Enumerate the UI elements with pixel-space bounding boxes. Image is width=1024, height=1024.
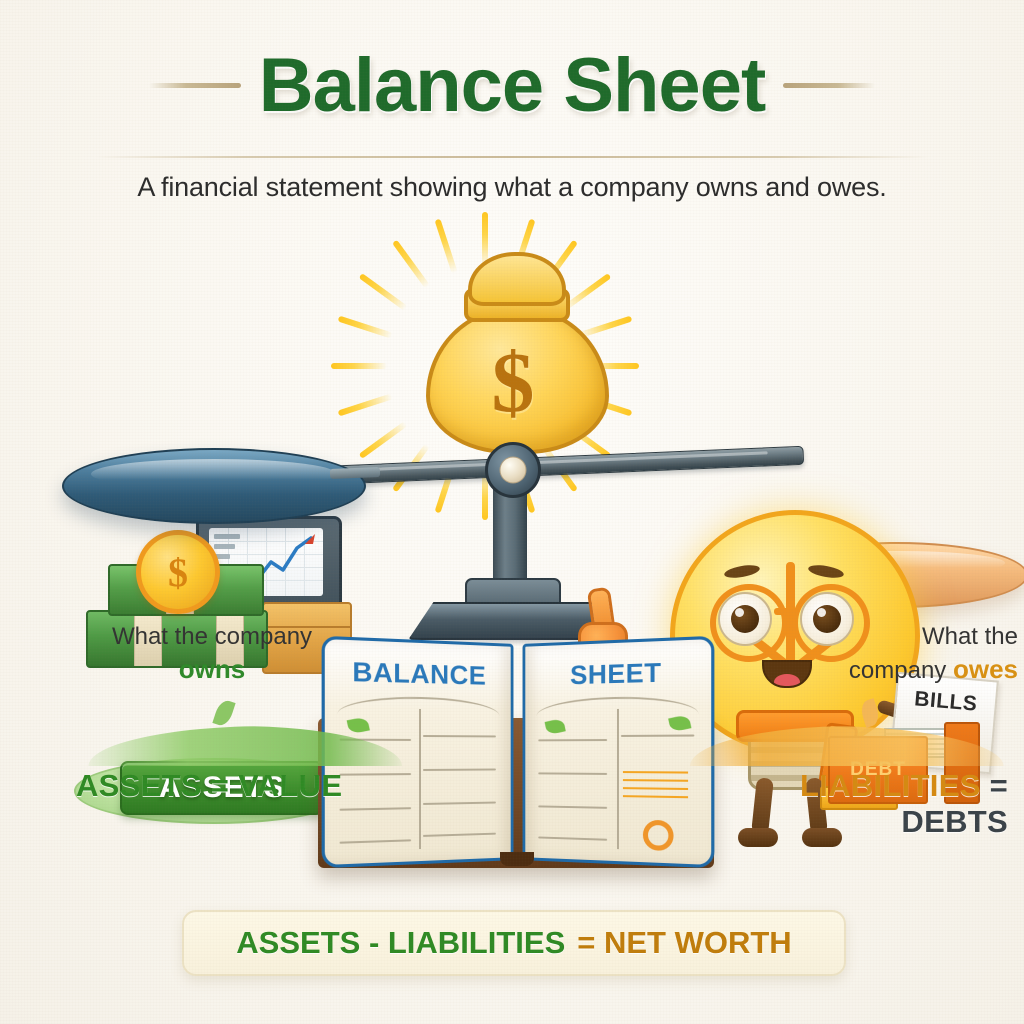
glasses-bridge <box>774 608 796 615</box>
page-rule <box>538 805 607 808</box>
banner-right-text: = NET WORTH <box>577 925 791 961</box>
floating-leaf-green-icon <box>212 698 235 728</box>
liabilities-caption-line1: What the <box>808 622 1018 653</box>
liabilities-equation: LIABILITIES = DEBTS <box>688 768 1008 840</box>
page-rule <box>340 807 412 811</box>
orange-entry-line <box>623 787 688 790</box>
liabilities-caption-text: company <box>849 657 953 684</box>
scale-pivot <box>485 442 541 498</box>
orange-stamp-icon <box>643 820 674 851</box>
page-rule <box>423 769 496 771</box>
shine-ray <box>338 393 393 416</box>
page-divider-right <box>617 709 619 849</box>
assets-equation: ASSETS = VALUE <box>76 768 376 804</box>
scale-pan-left-rod <box>330 467 380 479</box>
leaf-mark-icon <box>347 716 370 734</box>
book-left-page-title: BALANCE <box>325 656 511 692</box>
page-rule <box>621 734 694 736</box>
orange-entry-line <box>623 795 688 798</box>
title-dash-right <box>783 83 875 88</box>
shine-ray <box>392 240 430 289</box>
scale-pan-left <box>62 448 366 524</box>
page-rule <box>423 833 496 837</box>
header-divider <box>96 156 928 158</box>
net-worth-banner: ASSETS - LIABILITIES = NET WORTH <box>182 910 846 976</box>
book-page-right: SHEET <box>523 636 715 868</box>
assets-caption-line1: What the company <box>92 622 332 653</box>
page-rule <box>538 772 607 775</box>
gold-coin-icon: $ <box>136 530 220 614</box>
liabilities-caption-line2: company owes <box>808 653 1018 687</box>
balance-scale-illustration: $ $ AS <box>0 230 1024 650</box>
page-rule <box>340 839 412 843</box>
banner-left-text: ASSETS - LIABILITIES <box>236 925 565 961</box>
orange-entry-line <box>623 771 688 774</box>
money-bag-group: $ <box>408 244 618 464</box>
shine-ray <box>338 316 393 339</box>
assets-equation-rest: = VALUE <box>202 768 343 803</box>
title-row: Balance Sheet <box>0 42 1024 129</box>
bills-label: BILLS <box>913 687 978 716</box>
leaf-mark-icon <box>668 714 691 732</box>
shine-ray <box>435 219 458 274</box>
assets-caption-highlight: owns <box>92 653 332 686</box>
page-rule <box>423 802 496 805</box>
liabilities-equation-term: LIABILITIES <box>800 768 981 803</box>
assets-caption: What the company owns <box>92 622 332 686</box>
shine-ray <box>331 363 387 369</box>
page-rule <box>538 739 607 741</box>
page-rule <box>423 735 496 737</box>
dollar-sign-icon: $ <box>408 332 618 432</box>
book-right-page-title: SHEET <box>525 656 711 692</box>
book-spine-notch <box>500 852 534 866</box>
shine-ray <box>359 421 408 459</box>
title-dash-left <box>149 83 241 88</box>
tongue <box>774 674 800 688</box>
leaf-mark-icon <box>545 718 566 736</box>
page-subtitle: A financial statement showing what a com… <box>0 172 1024 203</box>
pivot-ball <box>500 457 527 484</box>
liabilities-caption: What the company owes <box>808 622 1018 686</box>
page-title: Balance Sheet <box>259 42 766 129</box>
liabilities-caption-highlight: owes <box>953 654 1018 684</box>
assets-equation-term: ASSETS <box>76 768 202 803</box>
orange-entry-line <box>623 779 688 782</box>
glasses-lens-left <box>710 584 788 662</box>
page-divider-left <box>419 709 421 849</box>
shine-ray <box>359 273 408 311</box>
page-rule <box>538 836 607 840</box>
infographic-canvas: Balance Sheet A financial statement show… <box>0 0 1024 1024</box>
